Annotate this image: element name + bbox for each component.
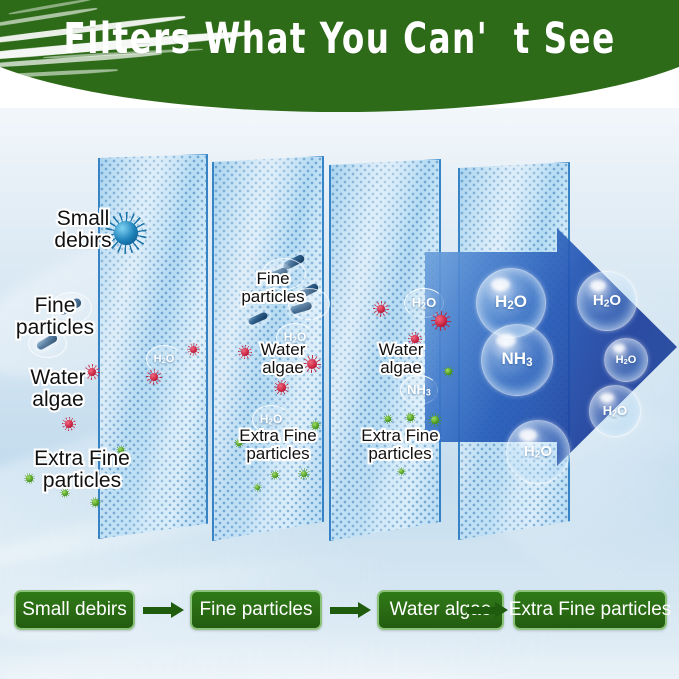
page-title-text: Filters What You Can' t See — [63, 14, 615, 64]
bubble-h2o-right-1: H2O — [577, 271, 637, 331]
particle-core — [435, 315, 446, 326]
arrow-head — [495, 602, 508, 618]
mini-h2o-label: H2O — [260, 412, 283, 426]
label-extra-fine-particles: Extra Fine particles — [17, 448, 147, 492]
flow-step-extra-fine-particles[interactable]: Extra Fine particles — [513, 590, 667, 630]
flow-step-small-debirs[interactable]: Small debirs — [14, 590, 135, 630]
extra-fine-particle — [270, 470, 280, 480]
extra-fine-particle — [443, 366, 454, 377]
panel2-label-water-algae: Water algae — [243, 341, 323, 376]
bubble-label: H2O — [616, 355, 637, 366]
water-algae-particle — [274, 380, 289, 395]
label-line: Water — [361, 341, 441, 359]
mini-h2o-label: H2O — [412, 295, 436, 310]
extra-fine-particle — [253, 483, 262, 492]
particle-core — [277, 383, 285, 391]
flow-arrow-1 — [143, 602, 184, 618]
arrow-shaft — [330, 607, 359, 614]
particle-core — [92, 499, 98, 505]
bubble-label: NH3 — [502, 350, 533, 369]
extra-fine-particle — [383, 414, 393, 424]
panel3-label-water-algae: Water algae — [361, 341, 441, 376]
particle-core — [399, 469, 404, 474]
flow-arrow-2 — [330, 602, 371, 618]
flow-step-fine-particles[interactable]: Fine particles — [190, 590, 322, 630]
water-wave — [147, 647, 632, 679]
particle-core — [431, 416, 439, 424]
bubble-label: H2O — [495, 293, 527, 312]
infographic-canvas: Filters What You Can' t See H2O — [0, 0, 679, 679]
particle-core — [272, 472, 278, 478]
label-line: algae — [361, 359, 441, 377]
arrow-head — [358, 602, 371, 618]
page-title: Filters What You Can' t See — [0, 0, 679, 112]
extra-fine-particle — [90, 497, 101, 508]
panel2-label-fine-particles: Fine particles — [228, 270, 318, 305]
mini-nh3-marker: NH3 — [400, 375, 438, 405]
label-line: Small — [28, 208, 138, 230]
mini-h2o-marker: H2O — [404, 288, 444, 318]
label-small-debris: Small debirs — [28, 208, 138, 252]
label-line: Fine — [0, 295, 110, 317]
label-line: particles — [226, 445, 330, 463]
particle-core — [385, 416, 391, 422]
flow-step-label: Small debirs — [22, 599, 127, 621]
bubble-h2o-large-2: H2O — [506, 420, 570, 484]
particle-core — [445, 368, 451, 374]
bubble-h2o-right-3: H2O — [589, 385, 641, 437]
label-fine-particles: Fine particles — [0, 295, 110, 339]
particle-core — [407, 414, 413, 420]
bubble-nh3-large-1: NH3 — [481, 324, 553, 396]
flow-step-label: Fine particles — [200, 599, 313, 621]
flow-step-label: Extra Fine particles — [509, 599, 672, 621]
arrow-head — [171, 602, 184, 618]
arrow-shaft — [143, 607, 172, 614]
label-line: Extra Fine — [349, 427, 451, 445]
water-algae-particle — [62, 417, 76, 431]
bubble-label: H2O — [524, 444, 552, 461]
header-banner: Filters What You Can' t See — [0, 0, 679, 112]
flow-arrow-3 — [467, 602, 508, 618]
label-line: particles — [228, 288, 318, 306]
mini-nh3-label: NH3 — [407, 382, 431, 397]
label-line: particles — [0, 317, 110, 339]
panel2-label-extra-fine: Extra Fine particles — [226, 427, 330, 462]
bubble-label: H2O — [603, 404, 627, 418]
mini-h2o-label: H2O — [154, 353, 175, 365]
label-water-algae: Water algae — [8, 367, 108, 411]
label-line: Extra Fine — [226, 427, 330, 445]
water-algae-particle — [187, 343, 200, 356]
extra-fine-particle — [428, 413, 442, 427]
extra-fine-particle — [397, 467, 406, 476]
arrow-shaft — [467, 607, 496, 614]
label-line: particles — [349, 445, 451, 463]
label-line: Extra Fine — [17, 448, 147, 470]
bubble-h2o-right-2: H2O — [604, 338, 648, 382]
extra-fine-particle — [298, 468, 310, 480]
label-line: Water — [8, 367, 108, 389]
water-algae-particle — [373, 301, 389, 317]
extra-fine-particle — [405, 412, 416, 423]
label-line: Water — [243, 341, 323, 359]
mini-h2o-marker: H2O — [146, 345, 182, 373]
label-line: Fine — [228, 270, 318, 288]
particle-core — [255, 485, 260, 490]
bubble-label: H2O — [593, 293, 621, 310]
filtration-flow: Small debirs Fine particles Water algae … — [0, 590, 679, 640]
panel3-label-extra-fine: Extra Fine particles — [349, 427, 451, 462]
label-line: particles — [17, 470, 147, 492]
particle-core — [65, 420, 73, 428]
label-line: algae — [243, 359, 323, 377]
label-line: debirs — [28, 230, 138, 252]
label-line: algae — [8, 389, 108, 411]
